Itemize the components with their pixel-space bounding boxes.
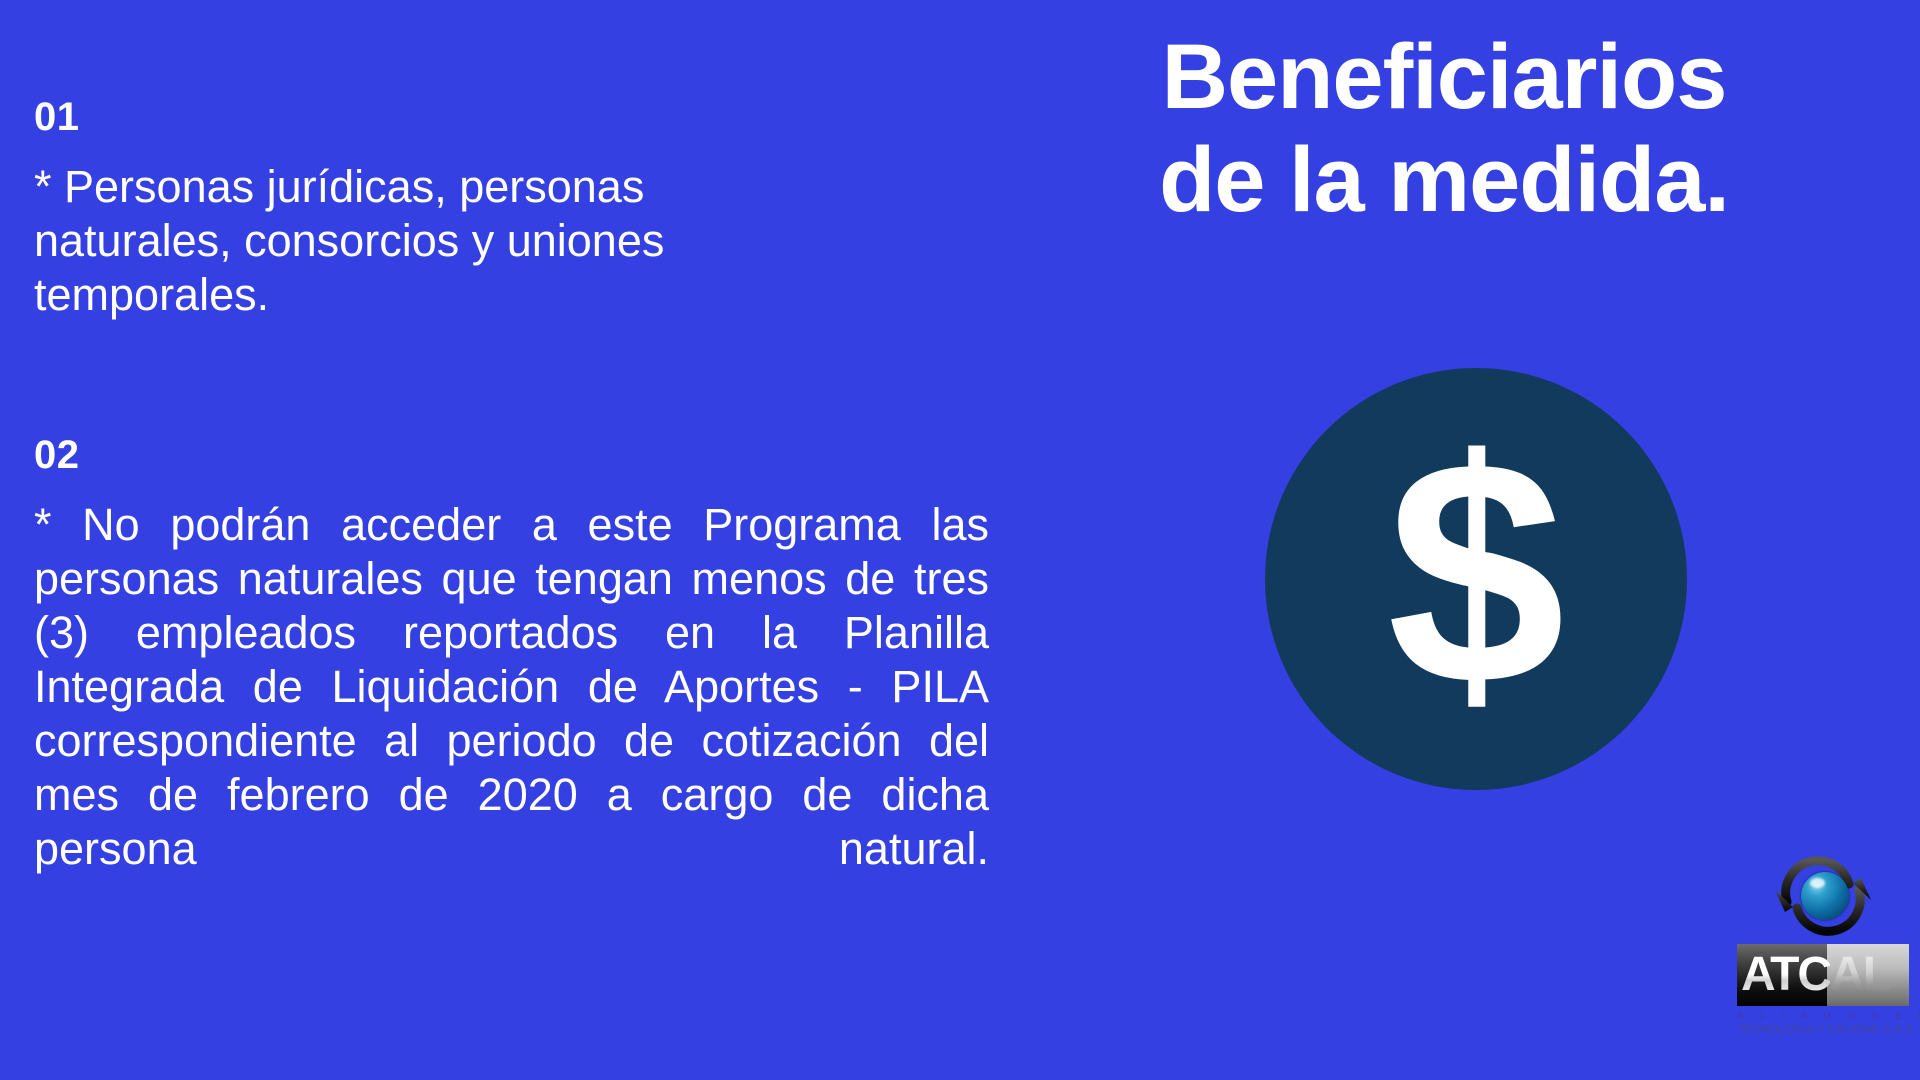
bullet-number-01: 01	[34, 96, 834, 138]
dollar-badge: $	[1265, 368, 1687, 790]
page-title: Beneficiarios de la medida.	[1014, 26, 1874, 232]
wordmark-letters: ATC AL	[1737, 944, 1909, 1006]
bullet-number-02: 02	[34, 434, 989, 476]
wordmark-atc: ATC	[1737, 951, 1830, 999]
bullet-block-02: 02 * No podrán acceder a este Programa l…	[34, 434, 989, 930]
logo-tagline-line2: TECNOLOGÍA Y CALIDAD S.A.S.	[1737, 1024, 1909, 1036]
atcal-logo: ATC AL A L I A D O S E N TECNOLOGÍA Y CA…	[1737, 850, 1909, 1080]
bullet-text-01: * Personas jurídicas, personas naturales…	[34, 160, 834, 322]
sphere-icon	[1801, 872, 1849, 920]
refresh-sphere-icon	[1763, 850, 1883, 942]
dollar-icon: $	[1265, 368, 1687, 790]
bullet-block-01: 01 * Personas jurídicas, personas natura…	[34, 96, 834, 322]
content-column: 01 * Personas jurídicas, personas natura…	[34, 96, 994, 930]
bullet-text-02: * No podrán acceder a este Programa las …	[34, 498, 989, 930]
logo-tagline-line1: A L I A D O S E N	[1737, 1010, 1909, 1022]
atcal-wordmark: ATC AL	[1737, 944, 1909, 1006]
slide-root: 01 * Personas jurídicas, personas natura…	[0, 0, 1920, 1080]
wordmark-al: AL	[1830, 951, 1890, 999]
